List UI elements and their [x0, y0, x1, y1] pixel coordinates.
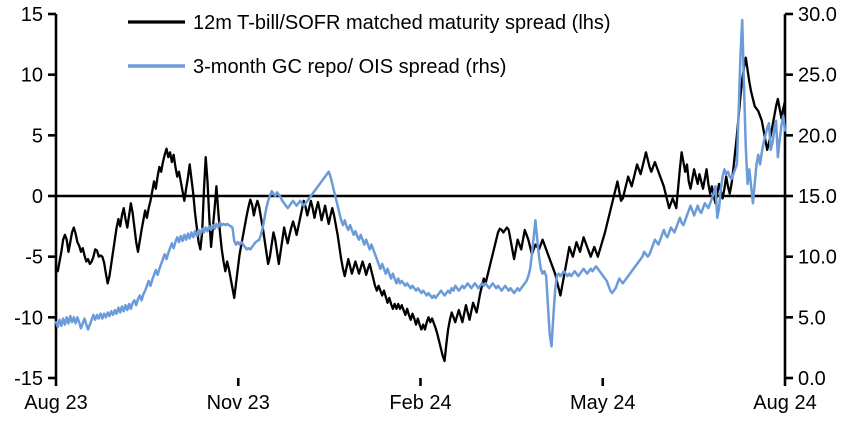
- left-axis-tick-label: 10: [21, 65, 43, 87]
- left-axis-tick-label: -10: [14, 307, 43, 329]
- chart-container: 151050-5-10-15 30.025.020.015.010.05.00.…: [0, 0, 852, 432]
- right-axis-tick-label: 30.0: [798, 4, 837, 26]
- x-axis: Aug 23Nov 23Feb 24May 24Aug 24: [24, 378, 816, 414]
- x-axis-tick-label: Aug 24: [753, 392, 816, 414]
- left-axis-tick-label: 15: [21, 4, 43, 26]
- x-axis-tick-label: May 24: [570, 392, 636, 414]
- x-axis-tick-label: Nov 23: [207, 392, 270, 414]
- left-axis: 151050-5-10-15: [14, 4, 56, 390]
- x-axis-tick-label: Aug 23: [24, 392, 87, 414]
- right-axis-tick-label: 15.0: [798, 186, 837, 208]
- x-axis-tick-label: Feb 24: [389, 392, 451, 414]
- left-axis-tick-label: -5: [25, 247, 43, 269]
- right-axis-tick-label: 20.0: [798, 125, 837, 147]
- legend-label-1: 12m T-bill/SOFR matched maturity spread …: [193, 12, 611, 34]
- right-axis-tick-label: 10.0: [798, 247, 837, 269]
- left-axis-tick-label: 0: [32, 186, 43, 208]
- right-axis-tick-label: 0.0: [798, 368, 826, 390]
- right-axis-tick-label: 25.0: [798, 65, 837, 87]
- right-axis: 30.025.020.015.010.05.00.0: [785, 4, 837, 390]
- dual-axis-line-chart: 151050-5-10-15 30.025.020.015.010.05.00.…: [0, 0, 852, 432]
- right-axis-tick-label: 5.0: [798, 307, 826, 329]
- left-axis-tick-label: -15: [14, 368, 43, 390]
- legend-label-2: 3-month GC repo/ OIS spread (rhs): [193, 56, 506, 78]
- left-axis-tick-label: 5: [32, 125, 43, 147]
